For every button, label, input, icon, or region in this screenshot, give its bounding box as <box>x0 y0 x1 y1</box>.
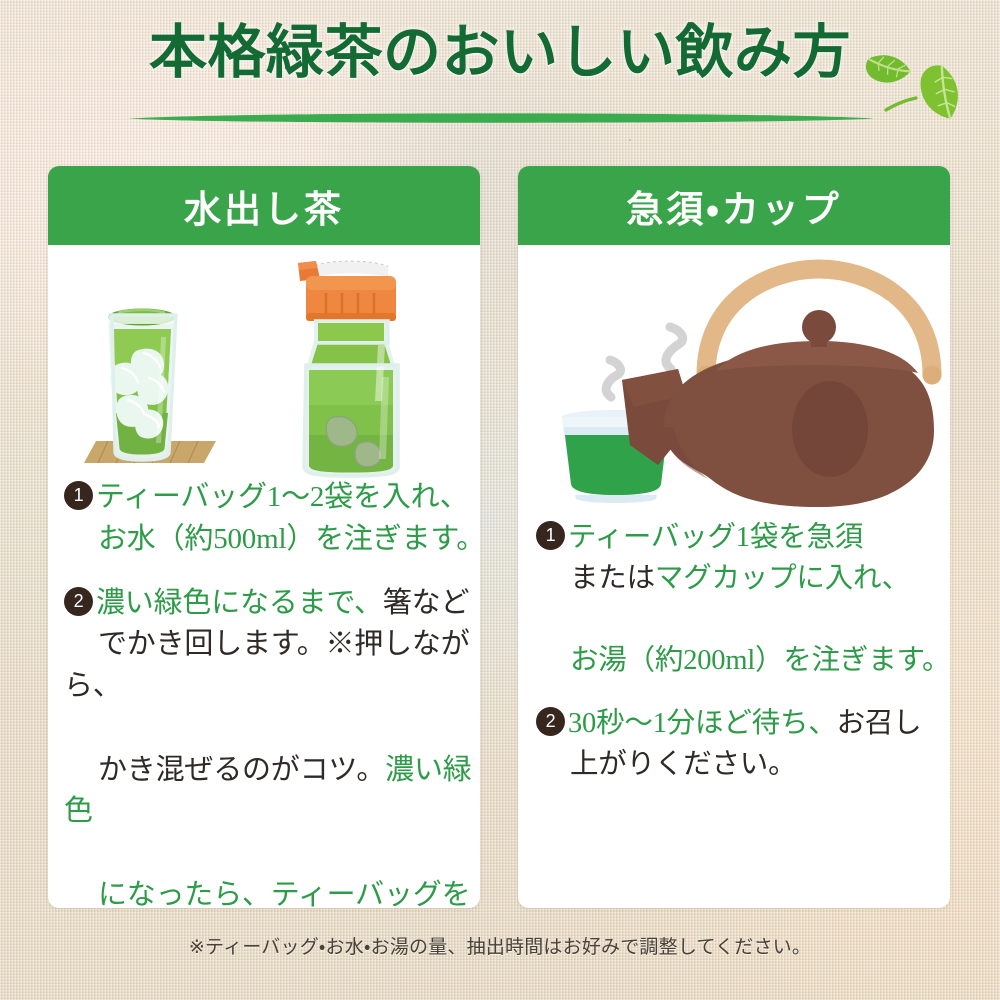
kyusu-teapot-icon <box>622 269 942 507</box>
step-line: またはマグカップに入れ、 <box>536 558 950 599</box>
step-line: かき混ぜるのがコツ。濃い緑色 <box>64 750 480 834</box>
step-number-badge: 2 <box>64 587 93 616</box>
card-teapot-cup: 急須・カップ <box>518 166 950 908</box>
title-underline-stroke <box>128 112 874 124</box>
steps-teapot-cup: 1ティーバッグ1袋を急須またはマグカップに入れ、お湯（約200ml）を注ぎます。… <box>518 517 950 785</box>
step-text-segment: 箸など <box>383 587 469 619</box>
step-number-badge: 1 <box>64 481 93 510</box>
step-number-badge: 1 <box>536 521 565 550</box>
step-text-segment: マグカップに入れ、 <box>655 563 910 594</box>
card-header-title: 水出し茶 <box>184 179 344 233</box>
card-header-title: 急須・カップ <box>626 179 842 233</box>
steps-cold-brew: 1ティーバッグ1〜2袋を入れ、お水（約500ml）を注ぎます。2濃い緑色になるま… <box>48 477 480 908</box>
step-text-segment: 濃い緑色になるまで、 <box>96 587 383 619</box>
step-number-badge: 2 <box>536 707 565 736</box>
step-item: 2濃い緑色になるまで、箸などでかき回します。※押しながら、かき混ぜるのがコツ。濃… <box>64 583 480 909</box>
step-line: お湯（約200ml）を注ぎます。 <box>536 640 950 681</box>
tea-leaves-icon <box>840 48 962 134</box>
step-line: でかき回します。※押しながら、 <box>64 624 480 708</box>
step-text-segment: ティーバッグ1袋を急須 <box>568 522 863 553</box>
step-text-segment: になったら、ティーバッグを取り <box>64 879 470 908</box>
step-line: 1ティーバッグ1袋を急須 <box>536 522 863 553</box>
teacup-with-steam-and-kyusu-teapot-illustration <box>518 245 950 515</box>
step-text-segment: でかき回します。※押しながら、 <box>64 628 470 702</box>
step-text-segment: お湯（約200ml）を注ぎます。 <box>570 645 950 676</box>
step-text-segment: 30秒〜1分ほど待ち、 <box>568 708 837 739</box>
card-body-cold-brew: 1ティーバッグ1〜2袋を入れ、お水（約500ml）を注ぎます。2濃い緑色になるま… <box>48 245 480 908</box>
footer-note: ※ティーバッグ・お水・お湯の量、抽出時間はお好みで調整してください。 <box>0 932 1000 959</box>
step-item: 1ティーバッグ1〜2袋を入れ、お水（約500ml）を注ぎます。 <box>64 477 480 561</box>
step-text-segment: ティーバッグ1〜2袋を入れ、 <box>96 481 468 513</box>
tea-bottle-icon <box>298 261 398 476</box>
card-body-teapot-cup: 1ティーバッグ1袋を急須またはマグカップに入れ、お湯（約200ml）を注ぎます。… <box>518 245 950 908</box>
step-text-segment: または <box>570 563 655 594</box>
iced-tea-glass-and-bottle-illustration <box>48 245 480 480</box>
iced-tea-glass-icon <box>108 309 176 461</box>
step-text-segment: お水（約500ml）を注ぎます。 <box>98 523 480 555</box>
step-text-segment: お召し <box>837 708 922 739</box>
title-block: 本格緑茶のおいしい飲み方 <box>0 16 1000 126</box>
step-line: お水（約500ml）を注ぎます。 <box>64 519 480 561</box>
step-line: 1ティーバッグ1〜2袋を入れ、 <box>64 481 468 513</box>
step-text-segment: 上がりください。 <box>570 749 796 780</box>
step-text-segment: かき混ぜるのがコツ。 <box>98 754 385 786</box>
step-line: 230秒〜1分ほど待ち、お召し <box>536 708 921 739</box>
step-line: 上がりください。 <box>536 744 950 785</box>
card-cold-brew: 水出し茶 <box>48 166 480 908</box>
step-line: 2濃い緑色になるまで、箸など <box>64 587 469 619</box>
card-header-cold-brew: 水出し茶 <box>48 166 480 245</box>
step-item: 230秒〜1分ほど待ち、お召し上がりください。 <box>536 703 950 785</box>
card-header-teapot-cup: 急須・カップ <box>518 166 950 245</box>
step-item: 1ティーバッグ1袋を急須またはマグカップに入れ、お湯（約200ml）を注ぎます。 <box>536 517 950 681</box>
step-line: になったら、ティーバッグを取り <box>64 875 480 908</box>
